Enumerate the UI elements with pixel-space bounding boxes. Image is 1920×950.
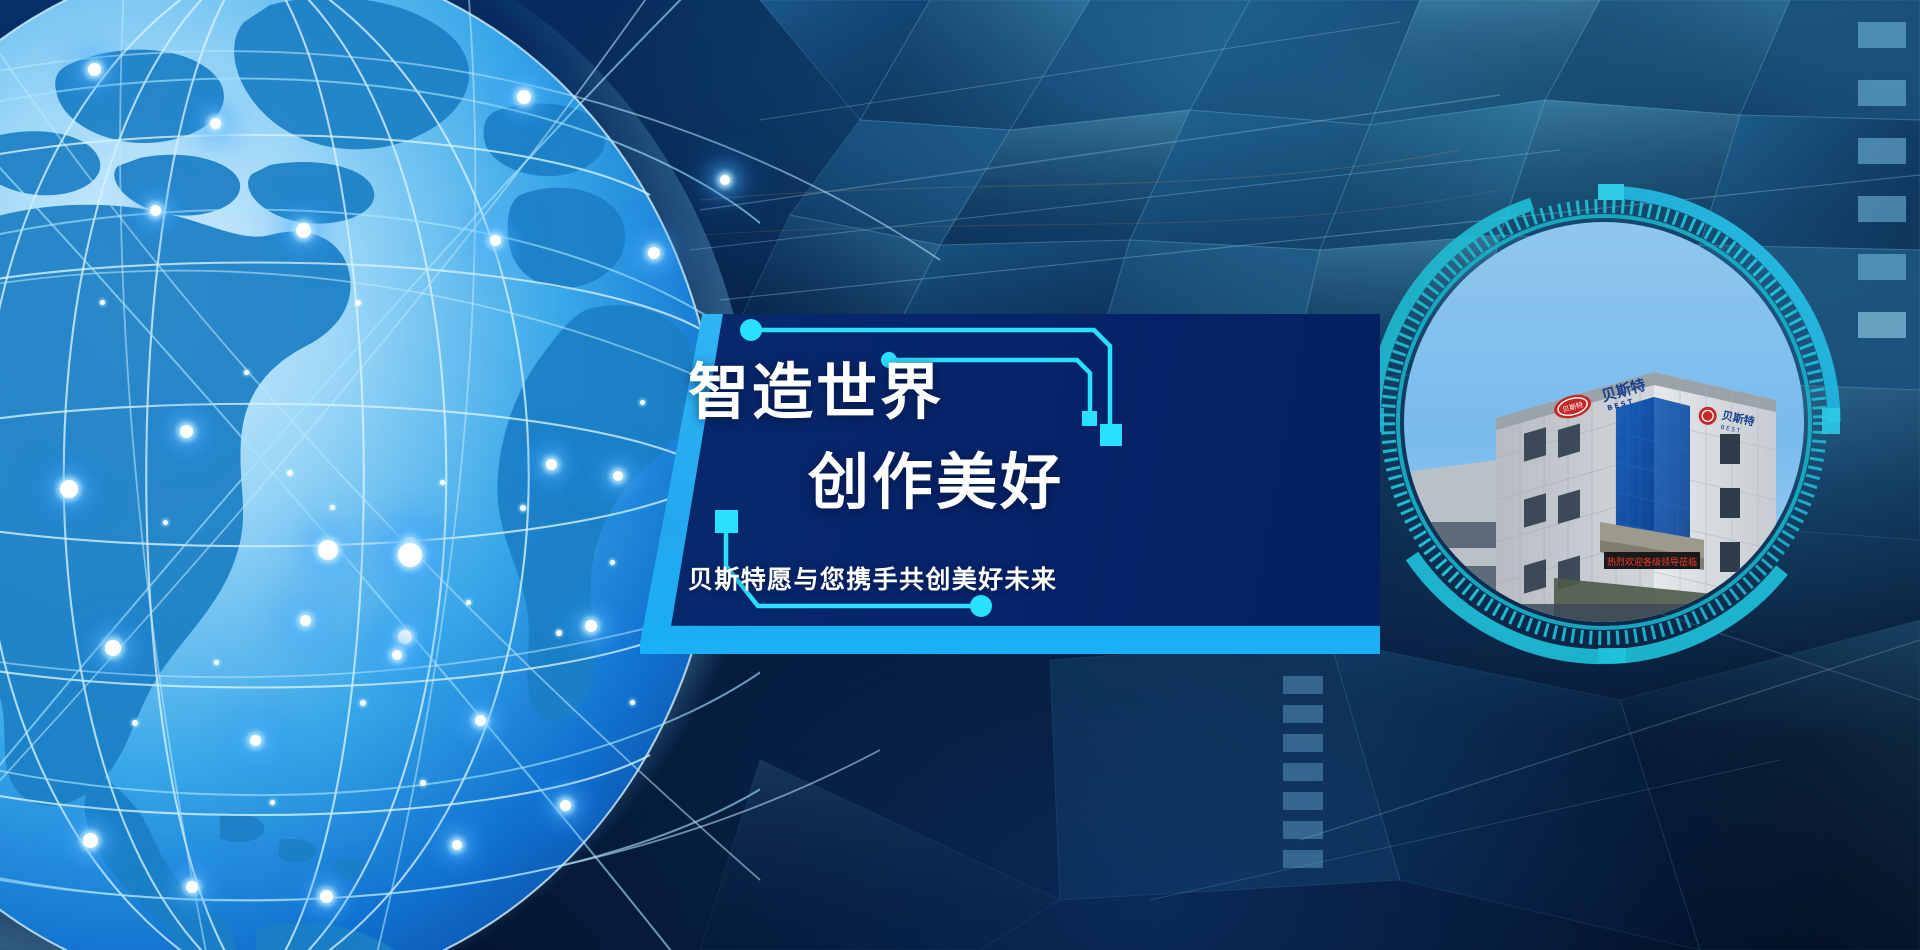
dash-segment [1283, 763, 1323, 781]
dash-segment [1283, 792, 1323, 810]
headline-line-1: 智造世界 [688, 362, 944, 423]
headline-line-2: 创作美好 [808, 452, 1064, 513]
dash-segment [1858, 196, 1906, 222]
headline-text-block: 智造世界 创作美好 贝斯特愿与您携手共创美好未来 [640, 314, 1380, 666]
hero-banner: 贝斯特 贝斯特 BEST 贝斯特 BEST [0, 0, 1920, 950]
dash-segment [1283, 705, 1323, 723]
dash-segment [1858, 254, 1906, 280]
dash-segment [1858, 138, 1906, 164]
dash-segment [1858, 80, 1906, 106]
headline-subtitle: 贝斯特愿与您携手共创美好未来 [688, 560, 1057, 596]
dash-segment [1858, 22, 1906, 48]
dash-segment [1858, 312, 1906, 338]
dashed-bar-decoration-bottom [1283, 676, 1323, 868]
dash-segment [1283, 734, 1323, 752]
dash-segment [1283, 850, 1323, 868]
building-photo-circle: 贝斯特 贝斯特 BEST 贝斯特 BEST [1378, 196, 1830, 648]
dash-segment [1283, 821, 1323, 839]
dashed-bar-decoration-right [1858, 22, 1906, 338]
tech-ring-icon [1352, 170, 1856, 674]
dash-segment [1283, 676, 1323, 694]
